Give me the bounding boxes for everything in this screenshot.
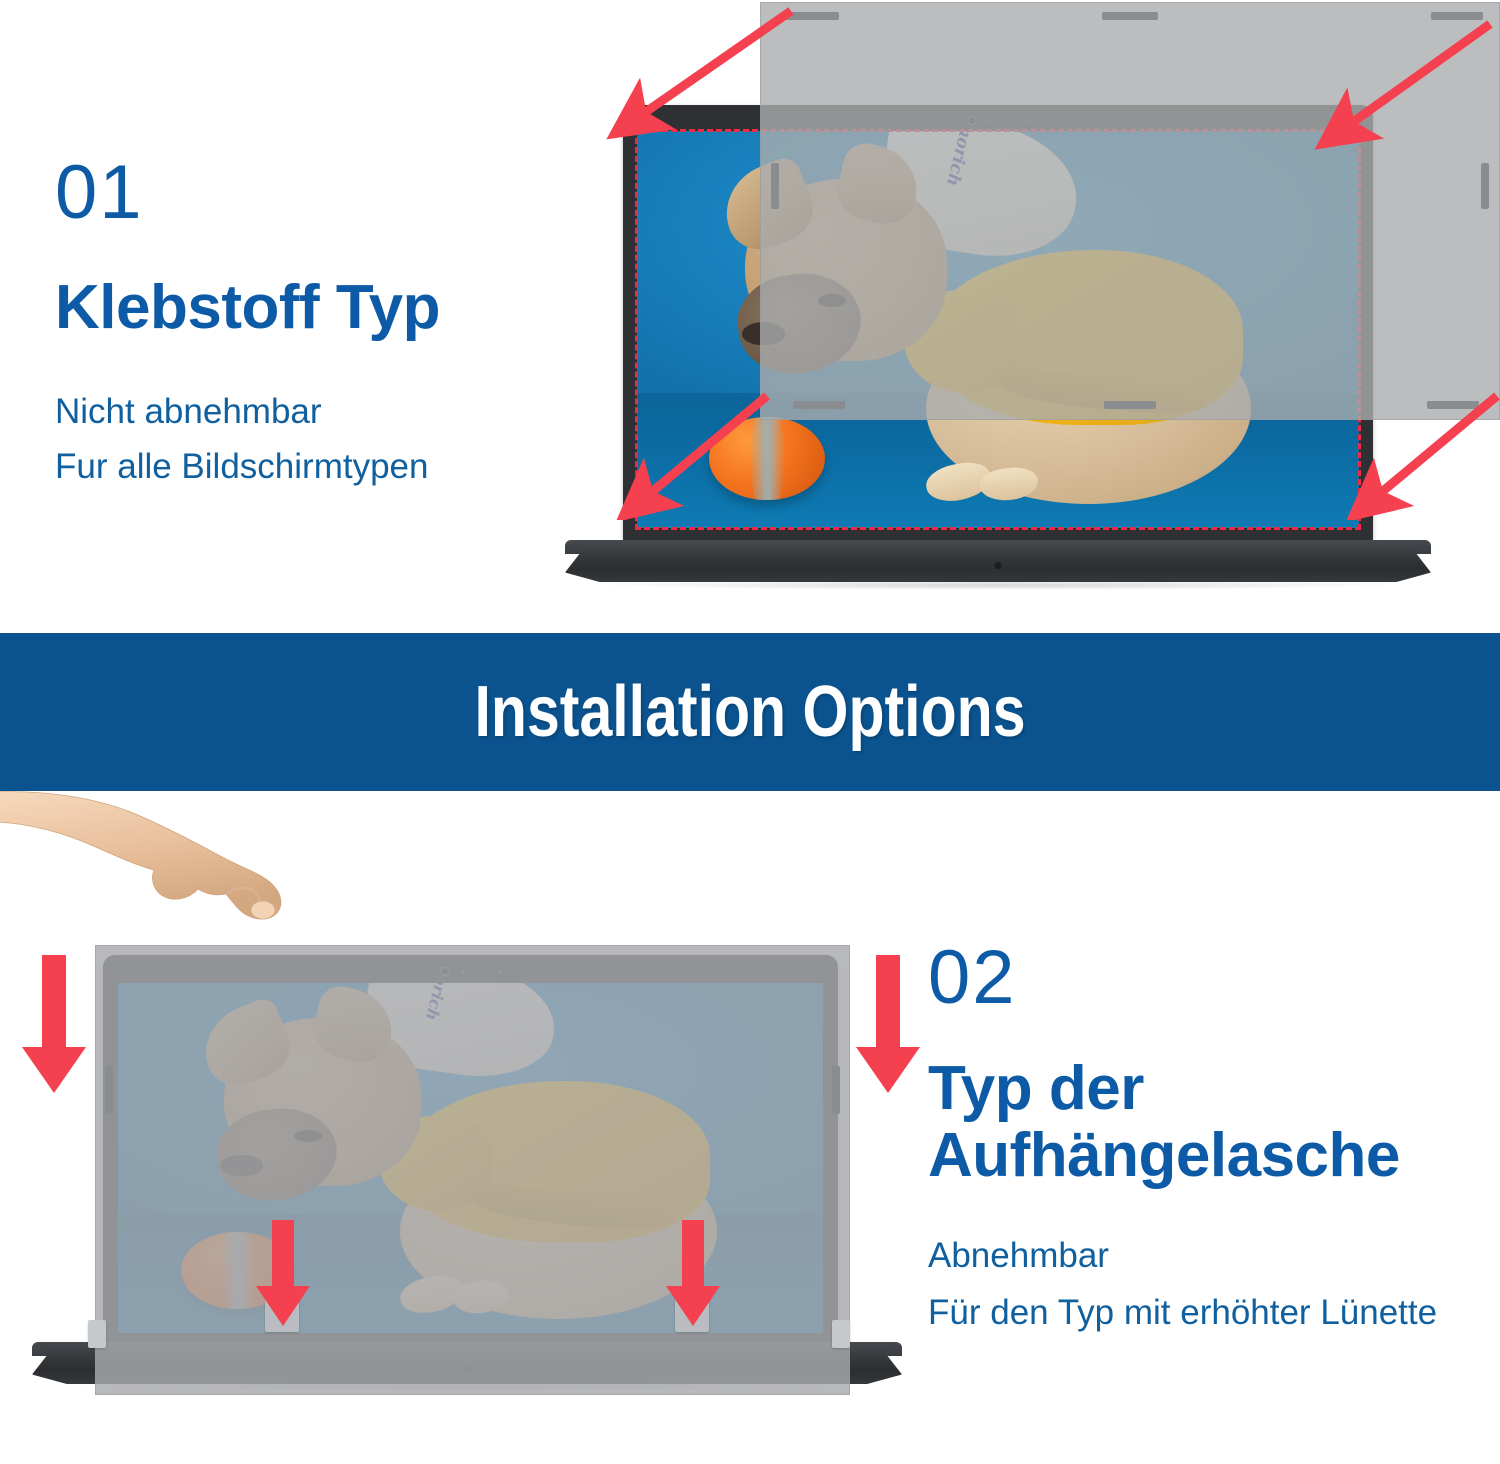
arrow-top-left-icon bbox=[605, 5, 795, 140]
step-02-subtitle-2: Für den Typ mit erhöhter Lünette bbox=[928, 1291, 1473, 1336]
filter-tab-mark-bottom-center bbox=[1104, 401, 1156, 409]
filter-tab-mark-top-center bbox=[1102, 12, 1158, 20]
step-02-text-block: 02 Typ der Aufhängelasche Abnehmbar Für … bbox=[928, 940, 1473, 1336]
step-02-title: Typ der Aufhängelasche bbox=[928, 1056, 1473, 1190]
step-01-text-block: 01 Klebstoff Typ Nicht abnehmbar Fur all… bbox=[55, 155, 615, 490]
hand-placing-filter-icon bbox=[0, 790, 350, 940]
step-01-subtitle-2: Fur alle Bildschirmtypen bbox=[55, 445, 615, 490]
scene-adhesive-type-illustration: morich bbox=[555, 0, 1500, 625]
arrow-down-far-right-icon bbox=[852, 955, 924, 1095]
installation-options-banner: Installation Options bbox=[0, 633, 1500, 791]
privacy-filter-panel-bottom bbox=[95, 945, 850, 1395]
arrow-top-right-icon bbox=[1315, 20, 1500, 150]
laptop-base-indicator bbox=[995, 562, 1002, 569]
hanging-tab-edge-left bbox=[88, 1320, 106, 1348]
arrow-down-center-right-icon bbox=[662, 1220, 724, 1328]
hanging-tab-edge-right bbox=[832, 1320, 850, 1348]
step-02-number: 02 bbox=[928, 940, 1473, 1016]
step-02-title-line-1: Typ der bbox=[928, 1056, 1473, 1123]
step-02-subtitle-1: Abnehmbar bbox=[928, 1234, 1473, 1279]
filter-tab-mark-left bbox=[771, 163, 779, 209]
laptop-base-top bbox=[565, 540, 1431, 584]
arrow-bottom-right-icon bbox=[1345, 390, 1500, 520]
filter-tab-mark-right bbox=[1481, 163, 1489, 209]
arrow-down-center-left-icon bbox=[252, 1220, 314, 1328]
filter-tab-mark-right bbox=[832, 1066, 840, 1114]
arrow-down-far-left-icon bbox=[18, 955, 90, 1095]
scene-hanging-tab-illustration: morich bbox=[0, 790, 930, 1464]
step-01-number: 01 bbox=[55, 155, 615, 231]
arrow-bottom-left-icon bbox=[615, 390, 775, 520]
filter-tab-mark-left bbox=[105, 1066, 113, 1114]
step-01-title: Klebstoff Typ bbox=[55, 275, 615, 342]
step-01-subtitle-1: Nicht abnehmbar bbox=[55, 390, 615, 435]
step-02-title-line-2: Aufhängelasche bbox=[928, 1123, 1473, 1190]
laptop-drop-shadow bbox=[600, 580, 1397, 590]
filter-tab-mark-bottom-left bbox=[793, 401, 845, 409]
banner-title: Installation Options bbox=[474, 671, 1025, 753]
product-infographic: 01 Klebstoff Typ Nicht abnehmbar Fur all… bbox=[0, 0, 1500, 1464]
filter-tab-mark-top-right bbox=[1431, 12, 1483, 20]
